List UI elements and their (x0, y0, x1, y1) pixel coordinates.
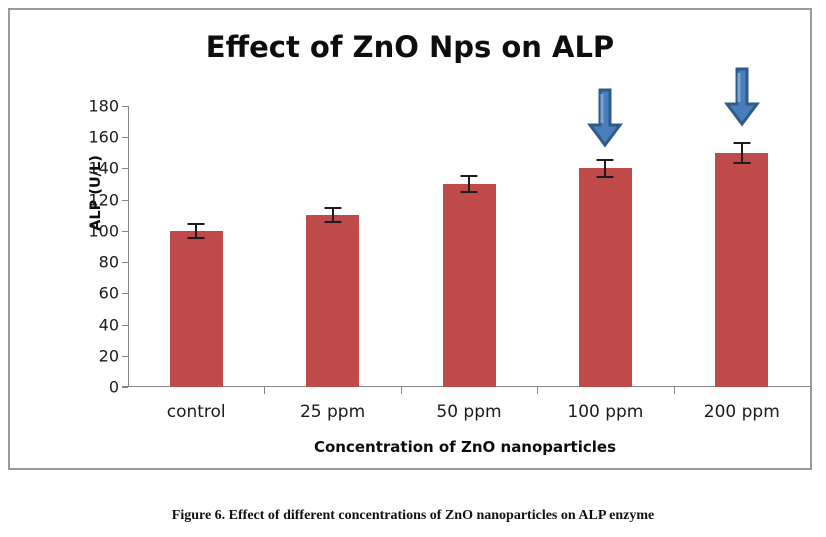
y-axis-tick-label: 180 (88, 97, 119, 116)
y-axis-tick (122, 387, 128, 388)
y-axis-tick (122, 168, 128, 169)
error-bar-cap-top (461, 175, 478, 177)
y-axis-tick-label: 80 (99, 253, 119, 272)
y-axis-tick-label: 160 (88, 128, 119, 147)
category-label-control: control (128, 402, 264, 422)
y-axis-tick-label: 20 (99, 346, 119, 365)
y-axis-tick-label: 120 (88, 190, 119, 209)
y-axis-line (128, 106, 129, 387)
category-separator (537, 387, 538, 394)
bar-25-ppm (306, 215, 359, 387)
bar-100-ppm (579, 168, 632, 387)
y-axis-tick-label: 60 (99, 284, 119, 303)
y-axis-tick (122, 356, 128, 357)
category-label-200-ppm: 200 ppm (674, 402, 810, 422)
chart-frame: Effect of ZnO Nps on ALP ALP (U/L) 02040… (8, 8, 812, 470)
category-separator (674, 387, 675, 394)
y-axis-tick-label: 0 (109, 378, 119, 397)
category-label-50-ppm: 50 ppm (401, 402, 537, 422)
y-axis-tick (122, 325, 128, 326)
error-bar-cap-top (597, 159, 614, 161)
y-axis-tick (122, 231, 128, 232)
x-axis-title: Concentration of ZnO nanoparticles (120, 438, 810, 456)
category-separator (264, 387, 265, 394)
y-axis-tick (122, 293, 128, 294)
bar-control (170, 231, 223, 387)
category-label-25-ppm: 25 ppm (264, 402, 400, 422)
error-bar-cap-top (324, 207, 341, 209)
y-axis-tick-label: 40 (99, 315, 119, 334)
down-arrow-200ppm-icon (724, 66, 760, 128)
down-arrow-100ppm-icon (587, 87, 623, 149)
category-separator (401, 387, 402, 394)
y-axis-tick (122, 200, 128, 201)
error-bar-cap-top (733, 142, 750, 144)
y-axis-tick-label: 140 (88, 159, 119, 178)
bar-200-ppm (715, 153, 768, 387)
category-label-100-ppm: 100 ppm (537, 402, 673, 422)
bar-50-ppm (443, 184, 496, 387)
y-axis-tick (122, 262, 128, 263)
error-bar-cap-top (188, 223, 205, 225)
plot-area: 020406080100120140160180 control25 ppm50… (120, 98, 810, 388)
y-axis-tick (122, 137, 128, 138)
figure-caption: Figure 6. Effect of different concentrat… (0, 508, 826, 524)
plot-inner: 020406080100120140160180 control25 ppm50… (128, 106, 810, 387)
y-axis-tick (122, 106, 128, 107)
y-axis-tick-label: 100 (88, 221, 119, 240)
chart-title: Effect of ZnO Nps on ALP (10, 30, 810, 64)
